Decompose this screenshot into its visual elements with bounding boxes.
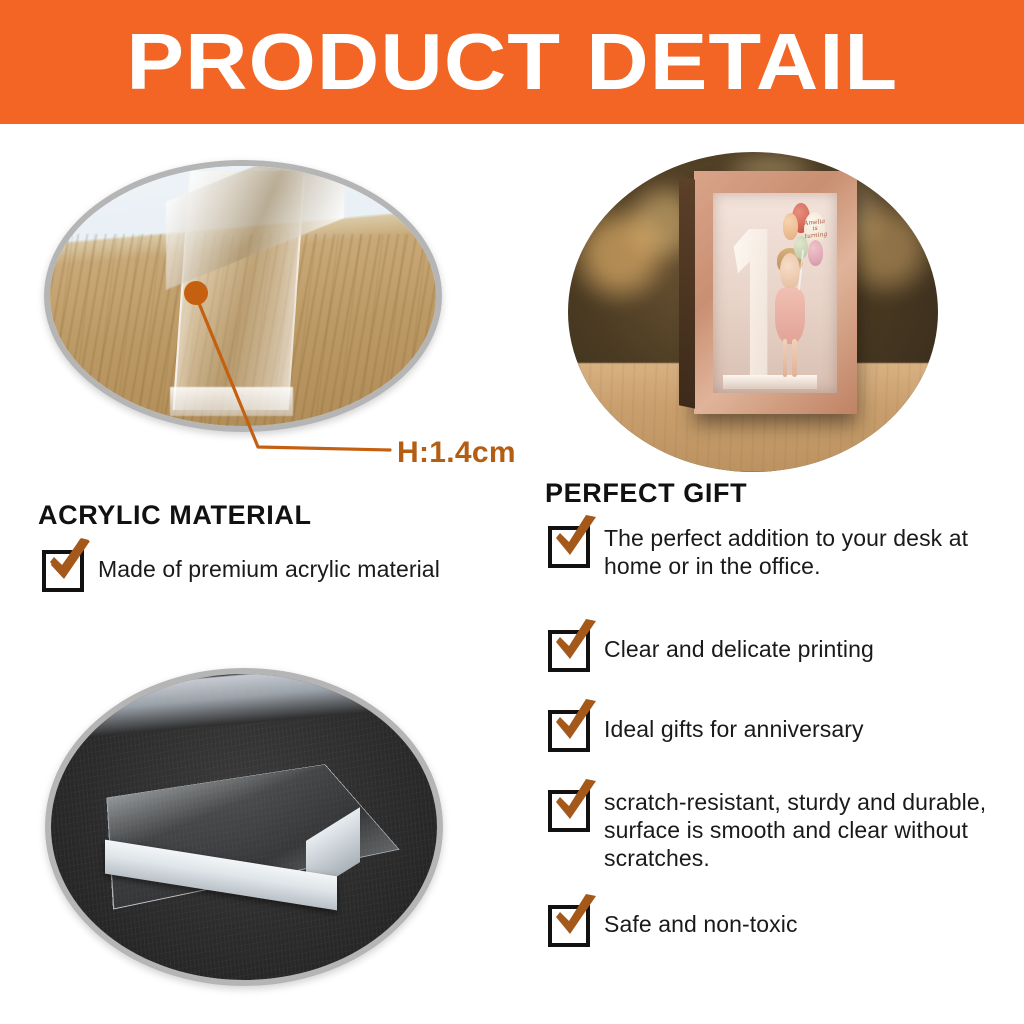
- checkmark-icon: [550, 698, 602, 752]
- checkbox-checked[interactable]: [548, 790, 590, 832]
- checkmark-icon: [550, 514, 602, 568]
- frame-base-plinth: [723, 375, 817, 389]
- balloon-text: Amelia is turning: [803, 219, 827, 240]
- feature-text: Clear and delicate printing: [604, 628, 874, 663]
- figure-leg-left: [783, 339, 788, 376]
- checkbox-checked[interactable]: [548, 526, 590, 568]
- acrylic-block-base: [170, 387, 294, 416]
- frame-interior: Amelia is turning: [713, 193, 837, 392]
- checkbox-checked[interactable]: [548, 630, 590, 672]
- checkmark-icon: [550, 893, 602, 947]
- shadow-box-frame: Amelia is turning: [694, 171, 857, 414]
- checkmark-icon: [550, 778, 602, 832]
- figure-dress: [775, 288, 805, 345]
- checkmark-icon: [550, 618, 602, 672]
- acrylic-edge-photo: [44, 160, 442, 432]
- feature-text: Ideal gifts for anniversary: [604, 708, 864, 743]
- acrylic-slab-photo: [45, 668, 443, 986]
- height-callout-label: H:1.4cm: [397, 436, 516, 470]
- checkmark-icon: [44, 538, 96, 592]
- checkbox-checked[interactable]: [548, 710, 590, 752]
- checkbox-checked[interactable]: [42, 550, 84, 592]
- checkbox-checked[interactable]: [548, 905, 590, 947]
- feature-item: Made of premium acrylic material: [42, 548, 512, 592]
- feature-text: The perfect addition to your desk at hom…: [604, 524, 998, 580]
- product-detail-infographic: PRODUCT DETAIL: [0, 0, 1024, 1024]
- feature-item: scratch-resistant, sturdy and durable, s…: [548, 788, 1003, 872]
- feature-text: scratch-resistant, sturdy and durable, s…: [604, 788, 1003, 872]
- balloon-cluster: Amelia is turning: [783, 201, 835, 289]
- header-banner: PRODUCT DETAIL: [0, 0, 1024, 124]
- feature-item: Ideal gifts for anniversary: [548, 708, 998, 752]
- feature-item: Clear and delicate printing: [548, 628, 998, 672]
- feature-item: The perfect addition to your desk at hom…: [548, 524, 998, 580]
- balloon-pink: [808, 240, 824, 266]
- feature-text: Made of premium acrylic material: [98, 548, 440, 583]
- page-title: PRODUCT DETAIL: [126, 22, 898, 102]
- section-title-acrylic-material: ACRYLIC MATERIAL: [38, 500, 312, 531]
- gift-frame-photo: Amelia is turning: [568, 152, 938, 472]
- balloon-peach: [783, 213, 799, 239]
- feature-item: Safe and non-toxic: [548, 903, 998, 947]
- section-title-perfect-gift: PERFECT GIFT: [545, 478, 747, 509]
- figure-leg-right: [792, 339, 797, 376]
- feature-text: Safe and non-toxic: [604, 903, 798, 938]
- frame-side-panel: [679, 177, 695, 409]
